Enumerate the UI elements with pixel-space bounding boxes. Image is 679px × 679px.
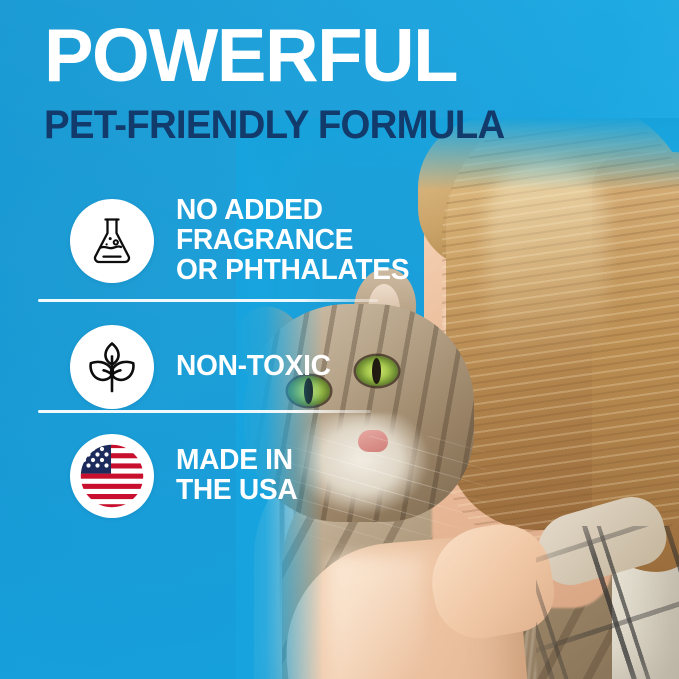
flask-icon-badge <box>70 199 154 283</box>
page-title: POWERFUL <box>44 22 457 88</box>
plant-leaf-icon <box>83 338 141 396</box>
promo-poster: POWERFUL PET-FRIENDLY FORMULA NO ADDED F… <box>0 0 679 679</box>
plaid-stripes-right-shoulder <box>536 526 679 679</box>
feature-label-made-in-usa: MADE IN THE USA <box>176 446 297 506</box>
divider-line-2 <box>38 410 371 413</box>
usa-flag-icon-badge <box>70 434 154 518</box>
feature-label-no-added-fragrance: NO ADDED FRAGRANCE OR PHTHALATES <box>176 196 409 286</box>
flask-icon <box>84 213 140 269</box>
cat-pupil-right <box>372 358 381 384</box>
feature-row-no-added-fragrance: NO ADDED FRAGRANCE OR PHTHALATES <box>70 196 416 286</box>
divider-line-1 <box>38 299 378 302</box>
usa-flag-icon <box>75 439 149 513</box>
page-subtitle: PET-FRIENDLY FORMULA <box>44 105 504 145</box>
feature-row-made-in-usa: MADE IN THE USA <box>70 434 301 518</box>
woman-hair-highlight <box>486 158 606 438</box>
feature-label-non-toxic: NON-TOXIC <box>176 352 331 382</box>
feature-row-non-toxic: NON-TOXIC <box>70 325 336 409</box>
plant-leaf-icon-badge <box>70 325 154 409</box>
